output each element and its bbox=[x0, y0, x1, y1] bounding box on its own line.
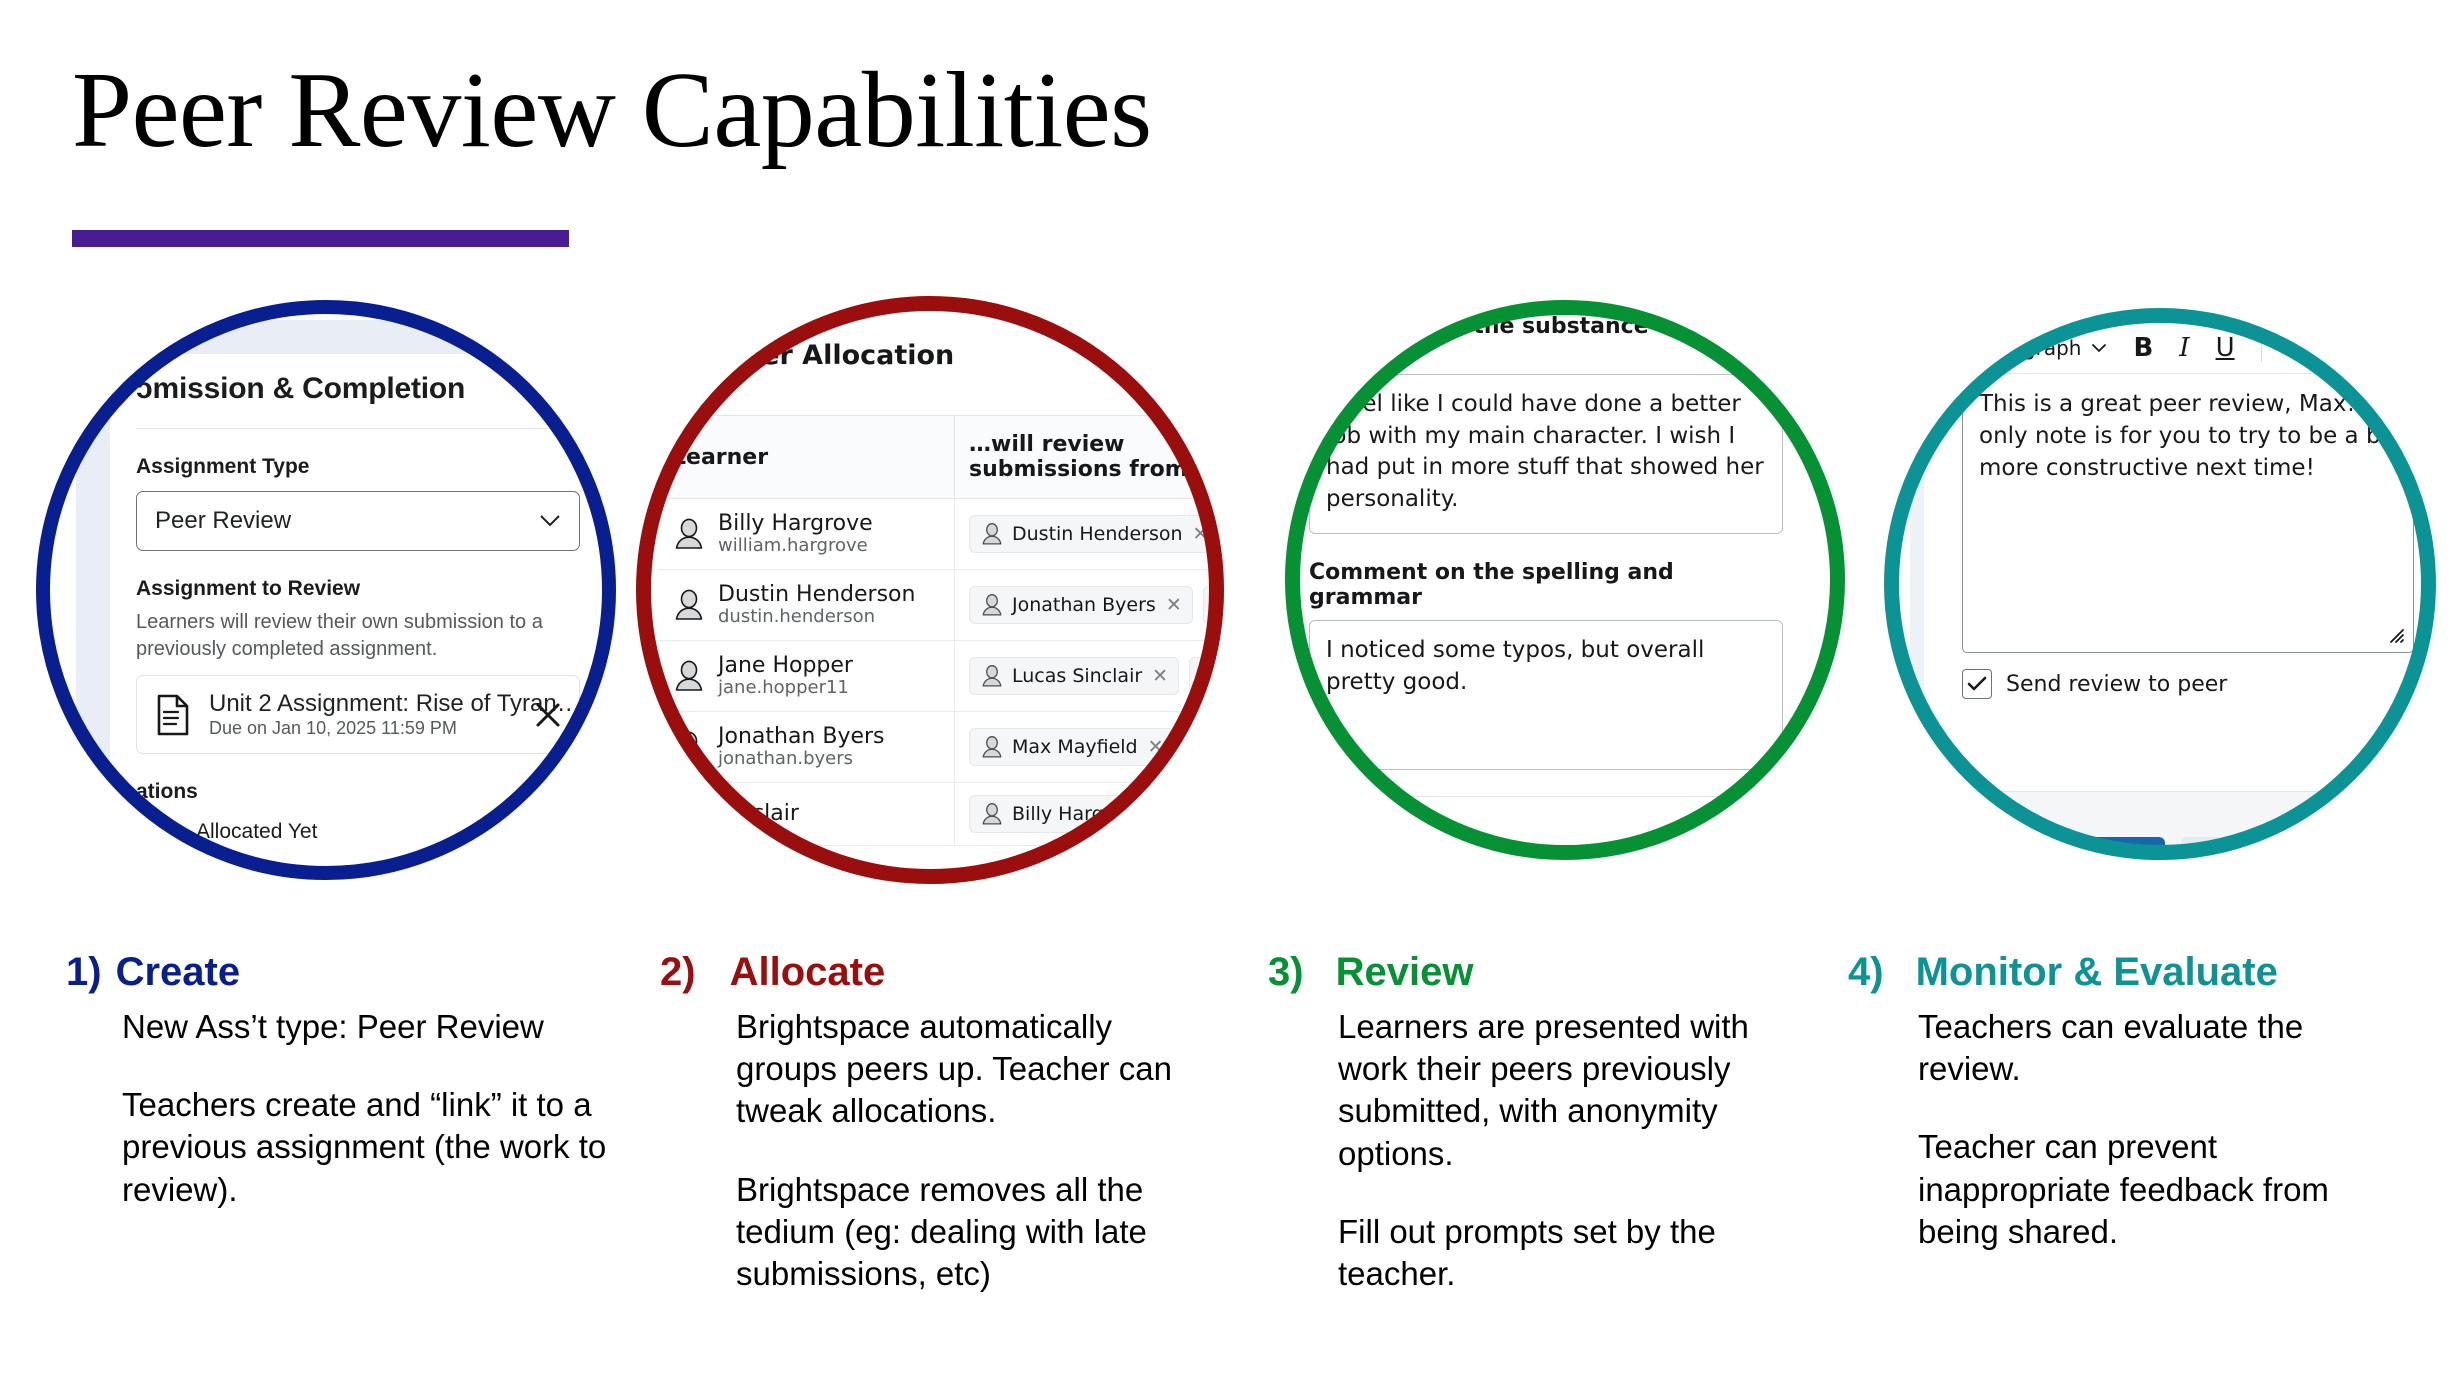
overall-feedback-label: Overall Feedback bbox=[1962, 308, 2414, 312]
reviewers-cell: Dustin Henderson✕Jane✕ bbox=[955, 499, 1225, 570]
page-title: Peer Review Capabilities bbox=[72, 52, 1152, 171]
chevron-down-icon bbox=[2091, 343, 2107, 353]
assignment-type-label: Assignment Type bbox=[136, 455, 580, 479]
learner-name: Jonathan Byers bbox=[718, 724, 885, 749]
peer-chip[interactable]: Jonathan Byers✕ bbox=[969, 586, 1193, 624]
learner-username: dustin.henderson bbox=[718, 606, 875, 627]
step-3-caption: 3) Review Learners are presented with wo… bbox=[1268, 952, 1798, 1295]
avatar-icon bbox=[980, 593, 1004, 617]
publish-button[interactable]: Publish bbox=[2006, 837, 2165, 860]
close-icon[interactable] bbox=[533, 700, 563, 730]
peer-chip[interactable]: M✕ bbox=[1185, 728, 1224, 766]
learner-cell: Jonathan Byersjonathan.byers bbox=[658, 711, 955, 782]
panel-submission-completion: ɔmission & Completion Assignment Type Pe… bbox=[36, 300, 616, 880]
peer-chip[interactable]: Billy Hargrov✕ bbox=[969, 795, 1171, 833]
italic-button[interactable]: I bbox=[2179, 333, 2189, 363]
options-label: ations bbox=[136, 780, 580, 804]
assignment-to-review-label: Assignment to Review bbox=[136, 577, 580, 601]
bold-button[interactable]: B bbox=[2133, 333, 2153, 363]
step-4-caption: 4) Monitor & Evaluate Teachers can evalu… bbox=[1848, 952, 2408, 1253]
editor-toolbar: Paragraph B I U ••• bbox=[1963, 323, 2413, 374]
prompt-2-textarea[interactable]: I noticed some typos, but overall pretty… bbox=[1309, 620, 1783, 770]
avatar-icon bbox=[980, 735, 1004, 759]
remove-peer-icon[interactable]: ✕ bbox=[1166, 594, 1182, 616]
step-2-number: 2) bbox=[660, 952, 696, 992]
paragraph-style-value: Paragraph bbox=[1979, 336, 2081, 360]
step-1-paragraph-1: New Ass’t type: Peer Review bbox=[122, 1006, 626, 1048]
avatar-icon bbox=[980, 664, 1004, 688]
step-3-paragraph-1: Learners are presented with work their p… bbox=[1338, 1006, 1798, 1175]
peer-chip-name: Max Mayfield bbox=[1012, 736, 1138, 758]
step-2-paragraph-1: Brightspace automatically groups peers u… bbox=[736, 1006, 1200, 1133]
send-review-row[interactable]: Send review to peer bbox=[1962, 669, 2414, 699]
assignment-to-review-description: Learners will review their own submissio… bbox=[136, 609, 580, 663]
divider bbox=[136, 428, 580, 429]
rich-text-editor[interactable]: Paragraph B I U ••• T bbox=[1962, 322, 2414, 653]
drag-handle-icon[interactable] bbox=[1928, 318, 1936, 354]
avatar-icon bbox=[1214, 593, 1224, 617]
peer-chip-name: Jonathan Byers bbox=[1012, 594, 1156, 616]
resize-grip-icon[interactable] bbox=[2385, 624, 2405, 644]
reviewers-cell: Jonathan Byers✕Lucas S✕ bbox=[955, 569, 1225, 640]
panel-overall-feedback: Overall Feedback Paragraph B I U bbox=[1884, 308, 2436, 860]
peer-chip-name: Billy Hargrov bbox=[1012, 803, 1134, 825]
avatar-icon bbox=[672, 588, 706, 622]
remove-peer-icon[interactable]: ✕ bbox=[1144, 803, 1160, 825]
panel-peer-allocation: ge Peer Allocation Learner …will review … bbox=[636, 296, 1224, 884]
step-3-label: Review bbox=[1336, 952, 1474, 992]
peer-chip[interactable]: Lucas S✕ bbox=[1203, 586, 1224, 624]
linked-assignment-due: Due on Jan 10, 2025 11:59 PM bbox=[209, 718, 457, 738]
slide: Peer Review Capabilities ɔmission & Comp… bbox=[0, 0, 2460, 1384]
chevron-down-icon bbox=[539, 514, 561, 528]
remove-peer-icon[interactable]: ✕ bbox=[1152, 665, 1168, 687]
learner-name: Dustin Henderson bbox=[718, 582, 915, 607]
peer-chip[interactable]: Max M✕ bbox=[1189, 657, 1224, 695]
remove-peer-icon[interactable]: ✕ bbox=[1193, 523, 1209, 545]
learner-cell: Dustin Hendersondustin.henderson bbox=[658, 569, 955, 640]
step-1-label: Create bbox=[116, 952, 241, 992]
panel-right-rail bbox=[606, 320, 616, 880]
peer-chip[interactable]: Lucas Sinclair✕ bbox=[969, 657, 1179, 695]
table-row: Jane Hopperjane.hopper11Lucas Sinclair✕M… bbox=[658, 640, 1224, 711]
learner-username: william.hargrove bbox=[718, 535, 868, 556]
reviewers-cell: Lucas Sinclair✕Max M✕ bbox=[955, 640, 1225, 711]
panel-left-rail bbox=[76, 320, 110, 880]
step-3-number: 3) bbox=[1268, 952, 1304, 992]
avatar-icon bbox=[1196, 735, 1220, 759]
prompt-1-label: Comment on the substance of the essay bbox=[1309, 314, 1783, 364]
panel-review-prompts: Comment on the substance of the essay I … bbox=[1285, 300, 1845, 860]
step-1-paragraph-2: Teachers create and “link” it to a previ… bbox=[122, 1084, 626, 1211]
peer-chip-name: Lucas Sinclair bbox=[1012, 665, 1142, 687]
reviewers-cell: Billy Hargrov✕ bbox=[955, 782, 1225, 845]
step-4-paragraph-2: Teacher can prevent inappropriate feedba… bbox=[1918, 1126, 2408, 1253]
peer-chip[interactable]: Max Mayfield✕ bbox=[969, 728, 1175, 766]
learner-name: Jane Hopper bbox=[718, 653, 853, 678]
step-4-number: 4) bbox=[1848, 952, 1884, 992]
avatar-icon bbox=[672, 797, 706, 831]
reviewers-cell: Max Mayfield✕M✕ bbox=[955, 711, 1225, 782]
checkmark-icon bbox=[1967, 676, 1987, 692]
panel-top-strip bbox=[76, 320, 616, 354]
linked-assignment-title: Unit 2 Assignment: Rise of Tyran… bbox=[209, 690, 581, 717]
panel-heading: ge Peer Allocation bbox=[658, 318, 1224, 371]
underline-button[interactable]: U bbox=[2216, 333, 2235, 363]
avatar-icon bbox=[672, 730, 706, 764]
prompt-1-textarea[interactable]: I feel like I could have done a better j… bbox=[1309, 374, 1783, 534]
peer-chip-name: Dustin Henderson bbox=[1012, 523, 1183, 545]
learner-cell: Sinclair bbox=[658, 782, 955, 845]
table-row: Jonathan Byersjonathan.byersMax Mayfield… bbox=[658, 711, 1224, 782]
paragraph-style-select[interactable]: Paragraph bbox=[1979, 336, 2107, 360]
step-1-caption: 1) Create New Ass’t type: Peer Review Te… bbox=[66, 952, 626, 1211]
assignment-type-value: Peer Review bbox=[155, 507, 291, 535]
panel-heading: ɔmission & Completion bbox=[136, 372, 580, 406]
divider bbox=[1309, 796, 1783, 797]
learner-cell: Billy Hargrovewilliam.hargrove bbox=[658, 499, 955, 570]
avatar-icon bbox=[672, 659, 706, 693]
prompt-2-label: Comment on the spelling and grammar bbox=[1309, 560, 1783, 610]
document-icon bbox=[153, 692, 193, 738]
avatar-icon bbox=[980, 802, 1004, 826]
step-1-number: 1) bbox=[66, 952, 102, 992]
step-2-paragraph-2: Brightspace removes all the tedium (eg: … bbox=[736, 1169, 1200, 1296]
send-review-label: Send review to peer bbox=[2006, 672, 2227, 697]
feedback-text: This is a great peer review, Max! My onl… bbox=[1979, 391, 2396, 481]
learner-cell: Jane Hopperjane.hopper11 bbox=[658, 640, 955, 711]
step-2-caption: 2) Allocate Brightspace automatically gr… bbox=[660, 952, 1200, 1295]
avatar-icon bbox=[980, 522, 1004, 546]
left-rail bbox=[1910, 308, 1924, 860]
table-row: Dustin Hendersondustin.hendersonJonathan… bbox=[658, 569, 1224, 640]
remove-peer-icon[interactable]: ✕ bbox=[1148, 736, 1164, 758]
linked-assignment-card[interactable]: Unit 2 Assignment: Rise of Tyran… Due on… bbox=[136, 675, 580, 754]
learner-username: jonathan.byers bbox=[718, 748, 853, 769]
title-accent-rule bbox=[72, 230, 569, 247]
table-row: Billy Hargrovewilliam.hargroveDustin Hen… bbox=[658, 499, 1224, 570]
table-row: SinclairBilly Hargrov✕ bbox=[658, 782, 1224, 845]
step-2-label: Allocate bbox=[730, 952, 886, 992]
learner-name: Sinclair bbox=[718, 801, 799, 826]
not-allocated-text: Allocated Yet bbox=[136, 820, 580, 844]
peer-allocation-table: Learner …will review submissions from Bi… bbox=[658, 415, 1224, 846]
table-header-row: Learner …will review submissions from bbox=[658, 416, 1224, 499]
send-review-checkbox[interactable] bbox=[1962, 669, 1992, 699]
step-4-paragraph-1: Teachers can evaluate the review. bbox=[1918, 1006, 2408, 1090]
secondary-button[interactable]: S bbox=[2181, 837, 2265, 860]
avatar-icon bbox=[1200, 664, 1224, 688]
feedback-textarea[interactable]: This is a great peer review, Max! My onl… bbox=[1963, 374, 2413, 652]
learner-username: jane.hopper11 bbox=[718, 677, 849, 698]
more-options-icon[interactable]: ••• bbox=[2345, 333, 2397, 363]
column-header-reviews: …will review submissions from bbox=[955, 416, 1225, 499]
toolbar-divider bbox=[2261, 334, 2262, 362]
assignment-type-select[interactable]: Peer Review bbox=[136, 491, 580, 551]
step-4-label: Monitor & Evaluate bbox=[1916, 952, 2278, 992]
column-header-learner: Learner bbox=[658, 416, 955, 499]
avatar-icon bbox=[672, 517, 706, 551]
step-3-paragraph-2: Fill out prompts set by the teacher. bbox=[1338, 1211, 1798, 1295]
peer-chip[interactable]: Dustin Henderson✕ bbox=[969, 515, 1219, 553]
learner-name: Billy Hargrove bbox=[718, 511, 873, 536]
